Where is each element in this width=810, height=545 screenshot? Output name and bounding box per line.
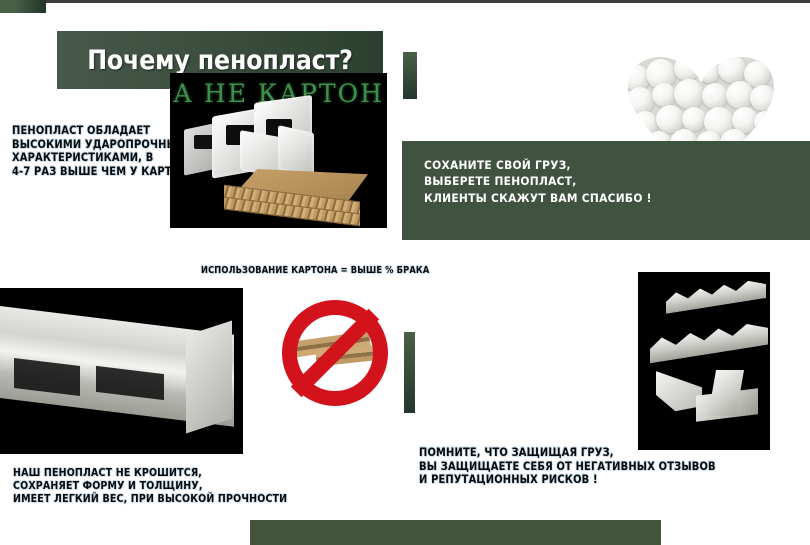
top-rule [0,0,810,3]
slide-canvas: Почему пенопласт? ПЕНОПЛАСТ ОБЛАДАЕТ ВЫС… [0,0,810,545]
foam-rail-icon [666,278,766,314]
bottom-accent-bar [250,520,661,545]
vertical-accent-bar-top [403,52,417,99]
foam-corner-pieces-photo [638,272,770,450]
green-callout-text: СОХАНИТЕ СВОЙ ГРУЗ, ВЫБЕРЕТЕ ПЕНОПЛАСТ, … [424,157,652,206]
foam-beam-photo [0,288,243,454]
middle-caption: ИСПОЛЬЗОВАНИЕ КАРТОНА = ВЫШЕ % БРАКА [201,265,429,276]
foam-beam-end-face-icon [186,321,232,434]
bottom-left-caption: НАШ ПЕНОПЛАСТ НЕ КРОШИТСЯ, СОХРАНЯЕТ ФОР… [13,467,287,506]
corner-block-decoration [0,0,46,13]
foam-vs-cardboard-photo: А НЕ КАРТОН [170,73,387,228]
no-cardboard-sign [282,300,388,406]
vertical-accent-bar-bottom [404,332,415,413]
foam-rail-icon [650,321,768,364]
top-left-caption: ПЕНОПЛАСТ ОБЛАДАЕТ ВЫСОКИМИ УДАРОПРОЧНЫМ… [12,124,197,178]
foam-piece-icon [278,125,314,177]
bottom-right-caption: ПОМНИТЕ, ЧТО ЗАЩИЩАЯ ГРУЗ, ВЫ ЗАЩИЩАЕТЕ … [419,446,716,487]
